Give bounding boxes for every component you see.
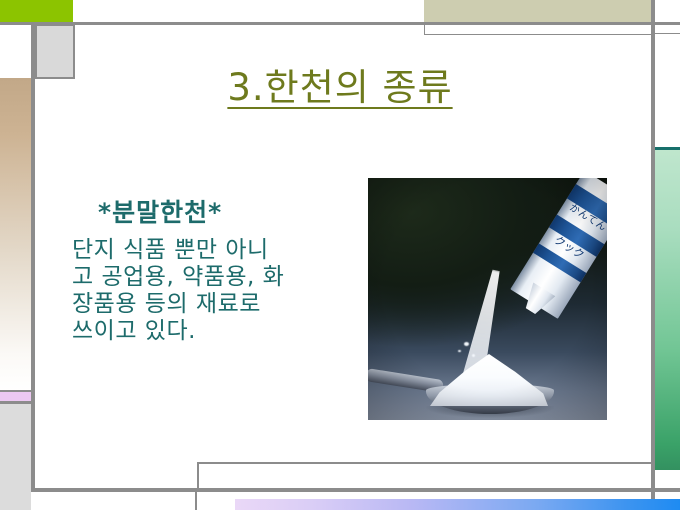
decor-khaki-underbox — [424, 25, 652, 35]
decor-blue-gradient-strip — [235, 499, 680, 510]
decor-bottom-frame-box — [197, 462, 653, 489]
decor-grey-block-bottom-left — [0, 404, 31, 510]
decor-green-gradient-right — [655, 150, 680, 470]
decor-khaki-block-top-right — [424, 0, 652, 23]
content-subheading: *분말한천* — [72, 196, 340, 230]
decor-tan-gradient-strip — [0, 78, 31, 392]
decor-rule-top-right-hair — [655, 33, 680, 34]
photo-vignette — [368, 178, 607, 420]
content-text-column: *분말한천* 단지 식품 뿐만 아니 고 공업용, 약품용, 화 장품용 등의 … — [72, 196, 340, 345]
decor-rule-top-horizontal — [0, 22, 680, 25]
slide-title: 3.한천의 종류 — [0, 66, 680, 110]
agar-powder-photo: かんてん クック — [368, 178, 607, 420]
decor-bottom-left-white — [35, 492, 197, 510]
decor-bottom-segment-white — [199, 492, 235, 510]
decor-green-block-top-left — [0, 0, 73, 22]
decor-lavender-strip — [0, 392, 31, 401]
slide-canvas: 3.한천의 종류 *분말한천* 단지 식품 뿐만 아니 고 공업용, 약품용, … — [0, 0, 680, 510]
content-body-text: 단지 식품 뿐만 아니 고 공업용, 약품용, 화 장품용 등의 재료로 쓰이고… — [72, 237, 340, 345]
